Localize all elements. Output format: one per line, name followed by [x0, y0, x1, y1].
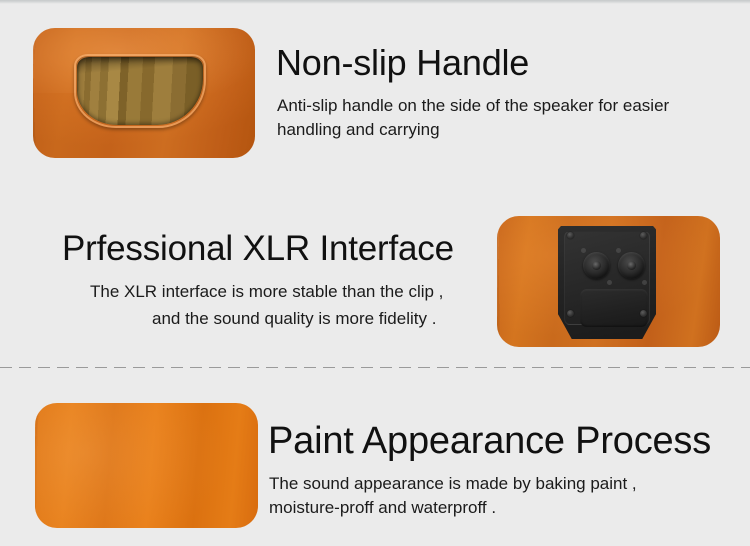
connector-notch [581, 248, 586, 253]
section-title-paint-appearance: Paint Appearance Process [268, 418, 711, 464]
dashed-divider [0, 367, 750, 368]
handle-cutout [77, 57, 203, 125]
connector-plate [558, 226, 656, 339]
section-body-line: The XLR interface is more stable than th… [90, 281, 443, 303]
baking-paint-surface-photo [35, 403, 258, 528]
connector-plate-inner [564, 231, 650, 325]
panel-sheen [35, 403, 258, 528]
top-edge-band [0, 0, 750, 4]
section-body-line: and the sound quality is more fidelity . [152, 308, 436, 330]
plate-screw [567, 232, 574, 239]
plate-recess [580, 289, 648, 327]
feature-page: Non-slip Handle Anti-slip handle on the … [0, 0, 750, 546]
plate-screw [640, 310, 647, 317]
section-body-line: Anti-slip handle on the side of the spea… [277, 95, 669, 117]
speaker-side-handle-photo [33, 28, 255, 158]
connector-notch [642, 280, 647, 285]
speakon-connector-left [583, 252, 610, 279]
section-body-line: handling and carrying [277, 119, 440, 141]
plate-screw [567, 310, 574, 317]
section-title-non-slip-handle: Non-slip Handle [276, 41, 529, 85]
connector-notch [607, 280, 612, 285]
section-title-xlr-interface: Prfessional XLR Interface [62, 227, 454, 270]
connector-notch [616, 248, 621, 253]
speakon-connector-right [618, 252, 645, 279]
section-body-line: moisture-proff and waterproff . [269, 497, 496, 519]
section-body-line: The sound appearance is made by baking p… [269, 473, 637, 495]
plate-screw [640, 232, 647, 239]
xlr-connector-plate-photo [497, 216, 720, 347]
